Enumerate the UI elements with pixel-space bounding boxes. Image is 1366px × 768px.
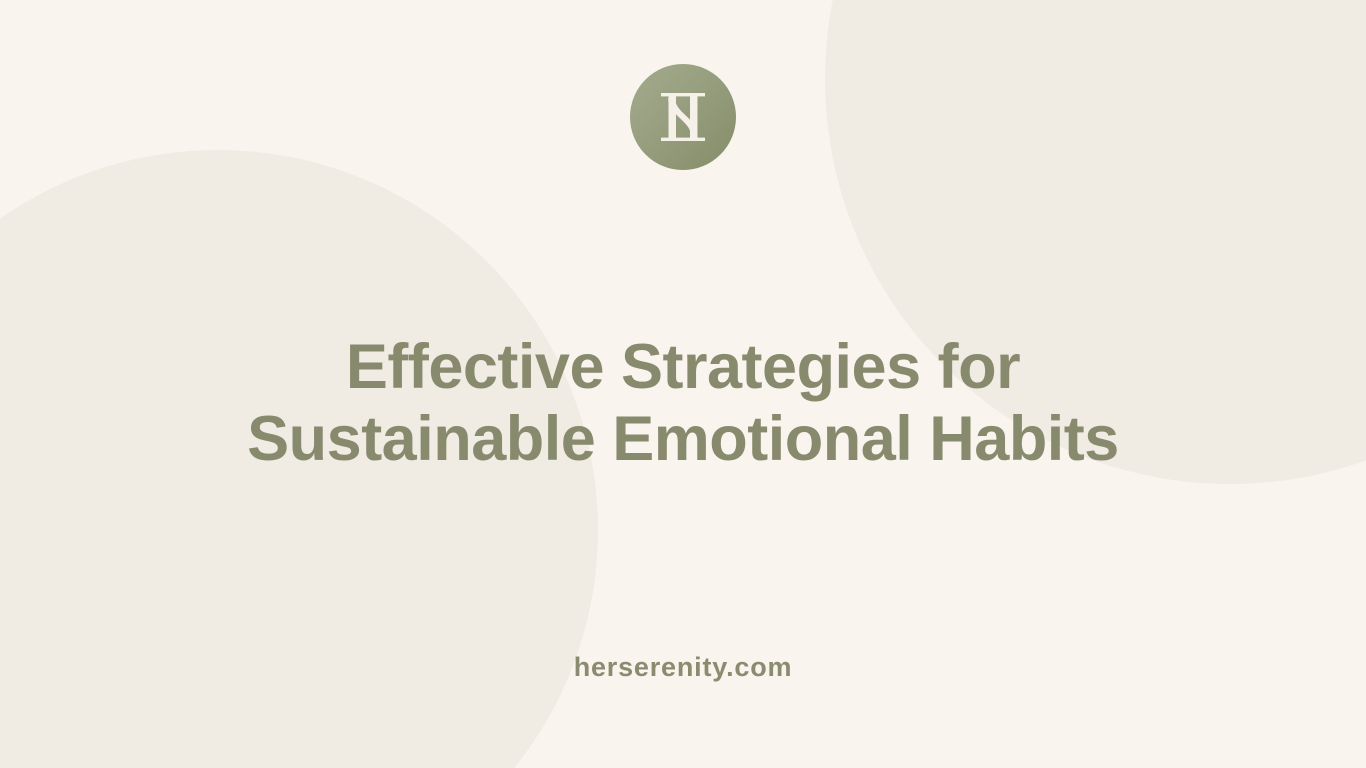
page-title: Effective Strategies for Sustainable Emo… [0, 332, 1366, 476]
card-content: Effective Strategies for Sustainable Emo… [0, 0, 1366, 768]
brand-logo [0, 64, 1366, 170]
title-card: Effective Strategies for Sustainable Emo… [0, 0, 1366, 768]
site-url: herserenity.com [0, 652, 1366, 683]
logo-badge-circle [630, 64, 736, 170]
monogram-h-icon [653, 86, 713, 148]
